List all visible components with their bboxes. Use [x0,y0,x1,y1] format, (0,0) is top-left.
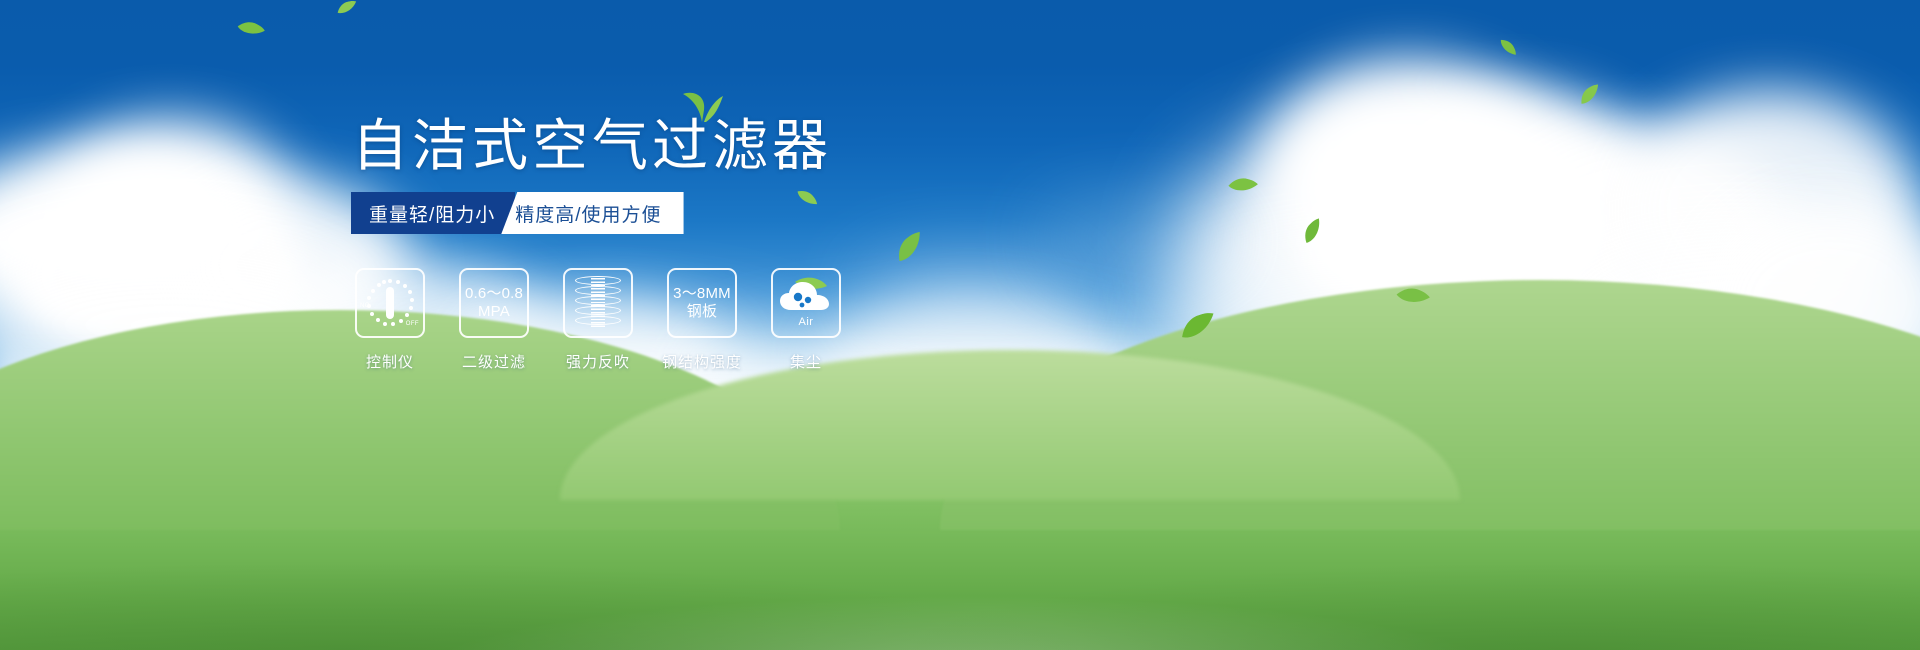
feature-caption: 控制仪 [366,351,414,372]
feature-item-two-stage-filtration[interactable]: 0.6～0.8 MPA 二级过滤 [456,268,532,372]
dial-off-label: OFF [406,321,419,328]
steel-plate-text-icon: 3～8MM 钢板 [673,285,731,321]
feature-item-dust-collection[interactable]: Air 集尘 [768,268,844,372]
page-title: 自洁式空气过滤器 [352,118,832,174]
dial-no-label: NO [360,303,370,310]
feature-icon-box: 3～8MM 钢板 [667,268,737,338]
dust-cloud-air-icon: Air [777,276,835,330]
feature-caption: 集尘 [790,351,822,372]
feature-tag-row: 重量轻/阻力小 精度高/使用方便 [351,192,684,234]
steel-thickness: 3～8MM [673,285,731,302]
feature-item-reverse-blow[interactable]: 强力反吹 [560,268,636,372]
feature-icon-box [563,268,633,338]
feature-caption: 钢结构强度 [662,351,742,372]
hero-banner: 自洁式空气过滤器 重量轻/阻力小 精度高/使用方便 [0,0,1920,650]
feature-item-steel-structure[interactable]: 3～8MM 钢板 钢结构强度 [664,268,740,372]
steel-material: 钢板 [673,303,731,321]
feature-icon-box: NO OFF [355,268,425,338]
feature-item-controller[interactable]: NO OFF 控制仪 [352,268,428,372]
feature-caption: 强力反吹 [566,351,630,372]
title-leaf-icon [682,88,724,127]
tag-precision-convenience[interactable]: 精度高/使用方便 [501,192,683,234]
air-label: Air [777,316,835,329]
filter-coil-icon [575,276,621,330]
feature-caption: 二级过滤 [462,351,526,372]
pressure-unit: MPA [465,303,523,321]
feature-icon-box: Air [771,268,841,338]
pressure-range: 0.6～0.8 [465,285,523,302]
tag-weight-resistance[interactable]: 重量轻/阻力小 [351,192,515,234]
pressure-text-icon: 0.6～0.8 MPA [465,285,523,321]
feature-icon-box: 0.6～0.8 MPA [459,268,529,338]
dial-gauge-icon: NO OFF [362,275,418,331]
feature-icon-row: NO OFF 控制仪 0.6～0.8 MPA 二级过滤 [352,268,844,372]
banner-content: 自洁式空气过滤器 重量轻/阻力小 精度高/使用方便 [0,0,1920,650]
